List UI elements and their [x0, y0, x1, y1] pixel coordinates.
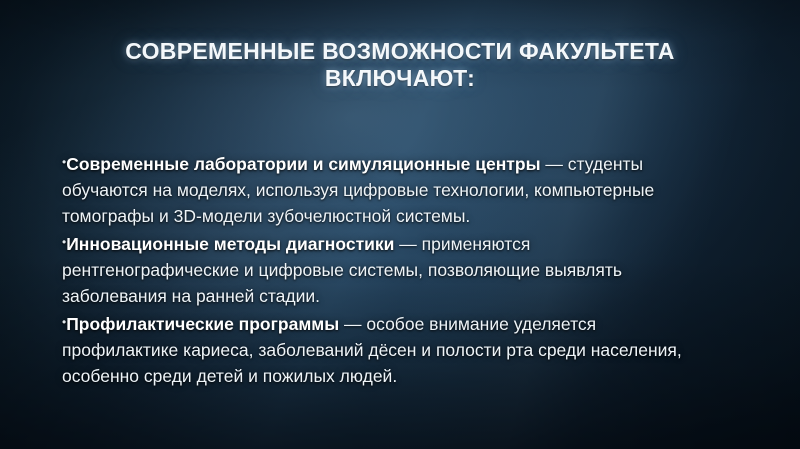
bullet-lead: Современные лаборатории и симуляционные …	[66, 154, 540, 174]
bullet-lead: Профилактические программы	[66, 314, 339, 334]
presentation-slide: СОВРЕМЕННЫЕ ВОЗМОЖНОСТИ ФАКУЛЬТЕТА ВКЛЮЧ…	[0, 0, 800, 449]
bullet-item: •Инновационные методы диагностики — прим…	[62, 229, 710, 309]
bullet-lead: Инновационные методы диагностики	[66, 234, 394, 254]
slide-content: СОВРЕМЕННЫЕ ВОЗМОЖНОСТИ ФАКУЛЬТЕТА ВКЛЮЧ…	[0, 0, 800, 449]
slide-body: •Современные лаборатории и симуляционные…	[62, 149, 710, 389]
bullet-item: •Профилактические программы — особое вни…	[62, 309, 710, 389]
bullet-item: •Современные лаборатории и симуляционные…	[62, 149, 710, 229]
slide-title: СОВРЕМЕННЫЕ ВОЗМОЖНОСТИ ФАКУЛЬТЕТА ВКЛЮЧ…	[92, 38, 708, 92]
